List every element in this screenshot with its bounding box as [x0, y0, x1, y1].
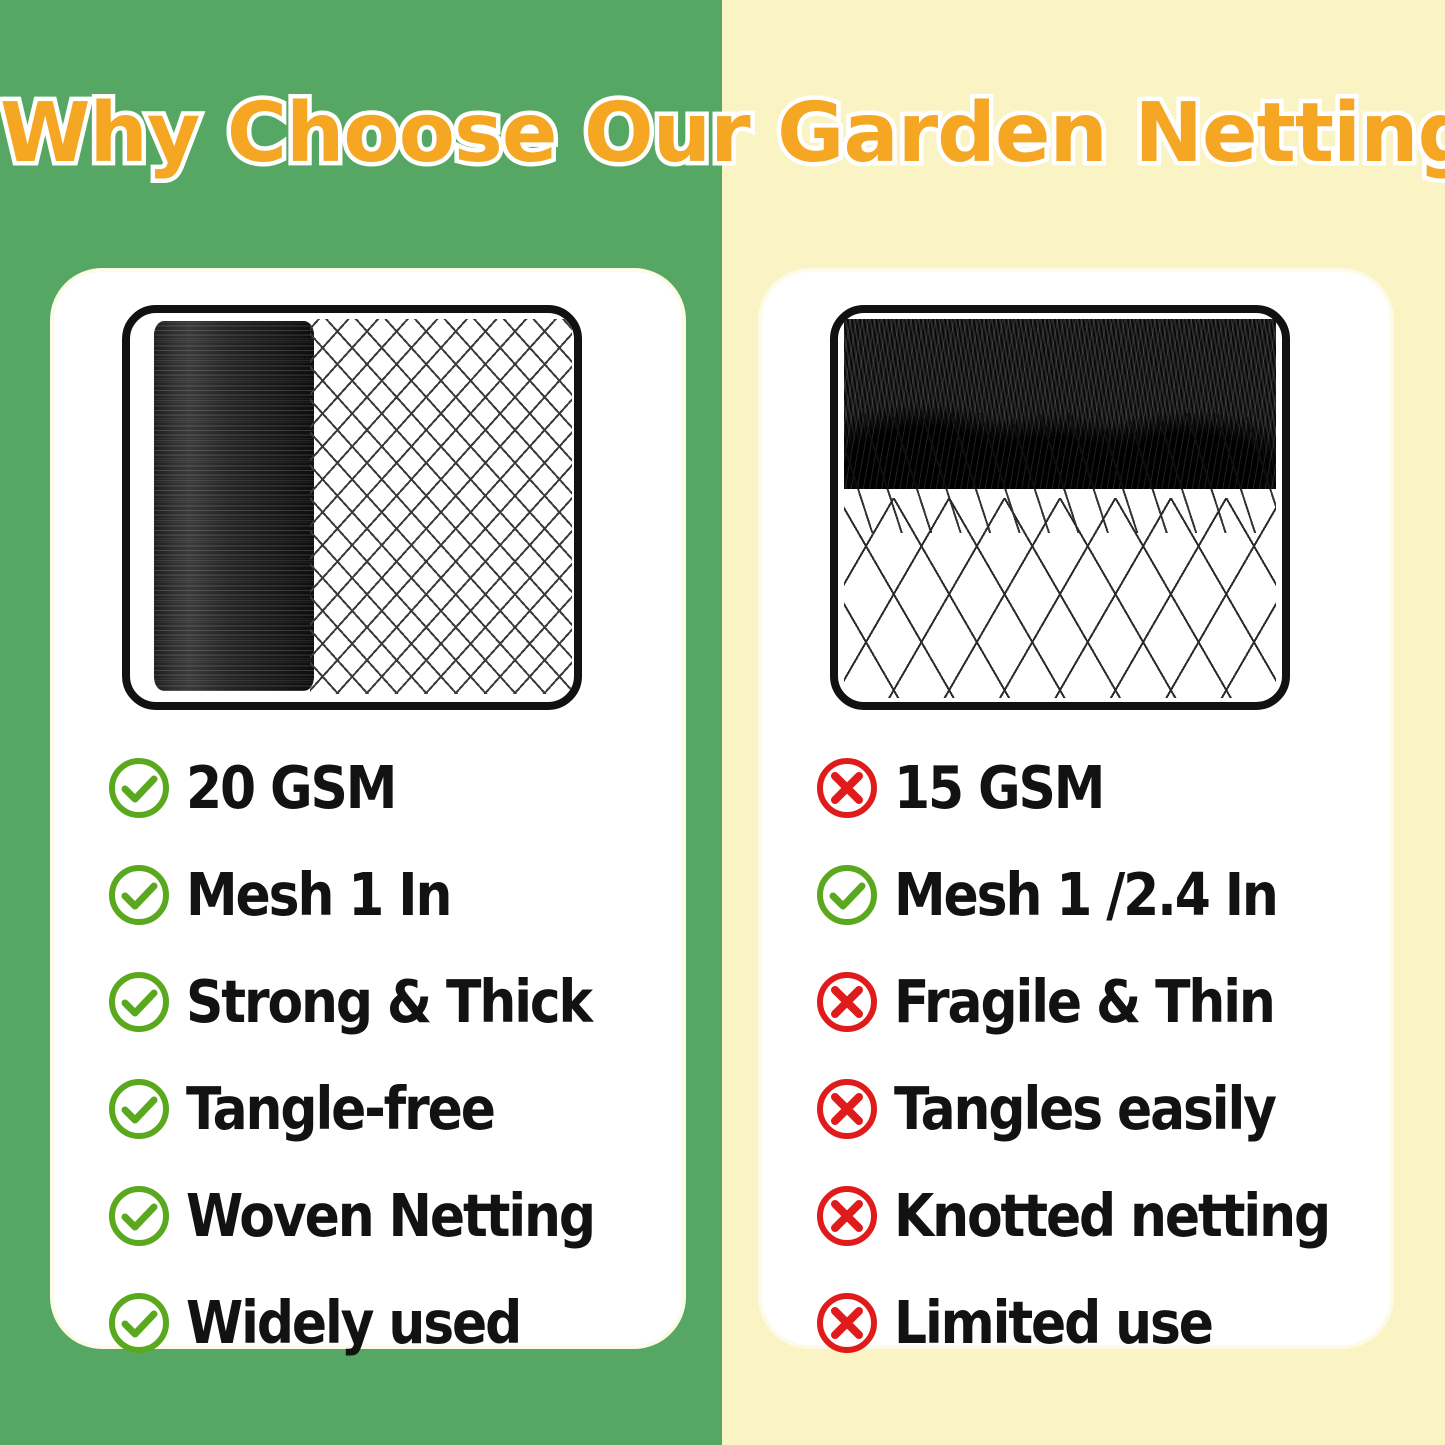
list-item: Mesh 1 In: [106, 841, 664, 948]
tangled-netting-photo: [838, 313, 1282, 702]
feature-label: Strong & Thick: [186, 972, 591, 1032]
check-circle-icon: [106, 862, 172, 928]
product-photo-frame-right: [830, 305, 1290, 710]
feature-label: 15 GSM: [894, 758, 1103, 818]
list-item: Mesh 1 /2.4 In: [814, 841, 1372, 948]
netting-roll-cylinder: [154, 321, 314, 691]
feature-label: Limited use: [894, 1293, 1212, 1353]
list-item: Limited use: [814, 1269, 1372, 1376]
feature-label: Knotted netting: [894, 1186, 1329, 1246]
page-title: Why Choose Our Garden Netting?: [0, 86, 1445, 182]
check-circle-icon: [106, 1290, 172, 1356]
cross-circle-icon: [814, 969, 880, 1035]
list-item: 15 GSM: [814, 734, 1372, 841]
feature-label: Mesh 1 In: [186, 865, 450, 925]
check-circle-icon: [106, 1076, 172, 1142]
feature-list-left: 20 GSM Mesh 1 In Strong & Thick: [106, 734, 664, 1376]
list-item: Strong & Thick: [106, 948, 664, 1055]
cross-circle-icon: [814, 1076, 880, 1142]
netting-roll-photo: [130, 313, 574, 702]
list-item: Tangle-free: [106, 1055, 664, 1162]
feature-label: Widely used: [186, 1293, 520, 1353]
feature-list-right: 15 GSM Mesh 1 /2.4 In Fragile & Thin: [814, 734, 1372, 1376]
list-item: Fragile & Thin: [814, 948, 1372, 1055]
feature-label: Tangles easily: [894, 1079, 1275, 1139]
cross-circle-icon: [814, 1290, 880, 1356]
feature-label: Tangle-free: [186, 1079, 494, 1139]
feature-label: 20 GSM: [186, 758, 395, 818]
list-item: Woven Netting: [106, 1162, 664, 1269]
check-circle-icon: [106, 1183, 172, 1249]
comparison-card-left: 20 GSM Mesh 1 In Strong & Thick: [54, 272, 682, 1345]
cross-circle-icon: [814, 1183, 880, 1249]
feature-label: Mesh 1 /2.4 In: [894, 865, 1277, 925]
cross-circle-icon: [814, 755, 880, 821]
list-item: 20 GSM: [106, 734, 664, 841]
list-item: Widely used: [106, 1269, 664, 1376]
list-item: Tangles easily: [814, 1055, 1372, 1162]
check-circle-icon: [106, 969, 172, 1035]
fine-diamond-mesh: [310, 319, 572, 694]
feature-label: Fragile & Thin: [894, 972, 1274, 1032]
check-circle-icon: [106, 755, 172, 821]
loose-knotted-mesh: [844, 498, 1276, 698]
list-item: Knotted netting: [814, 1162, 1372, 1269]
feature-label: Woven Netting: [186, 1186, 594, 1246]
comparison-card-right: 15 GSM Mesh 1 /2.4 In Fragile & Thin: [762, 272, 1390, 1345]
product-photo-frame-left: [122, 305, 582, 710]
comparison-infographic: Why Choose Our Garden Netting? 20 GSM: [0, 0, 1445, 1445]
check-circle-icon: [814, 862, 880, 928]
